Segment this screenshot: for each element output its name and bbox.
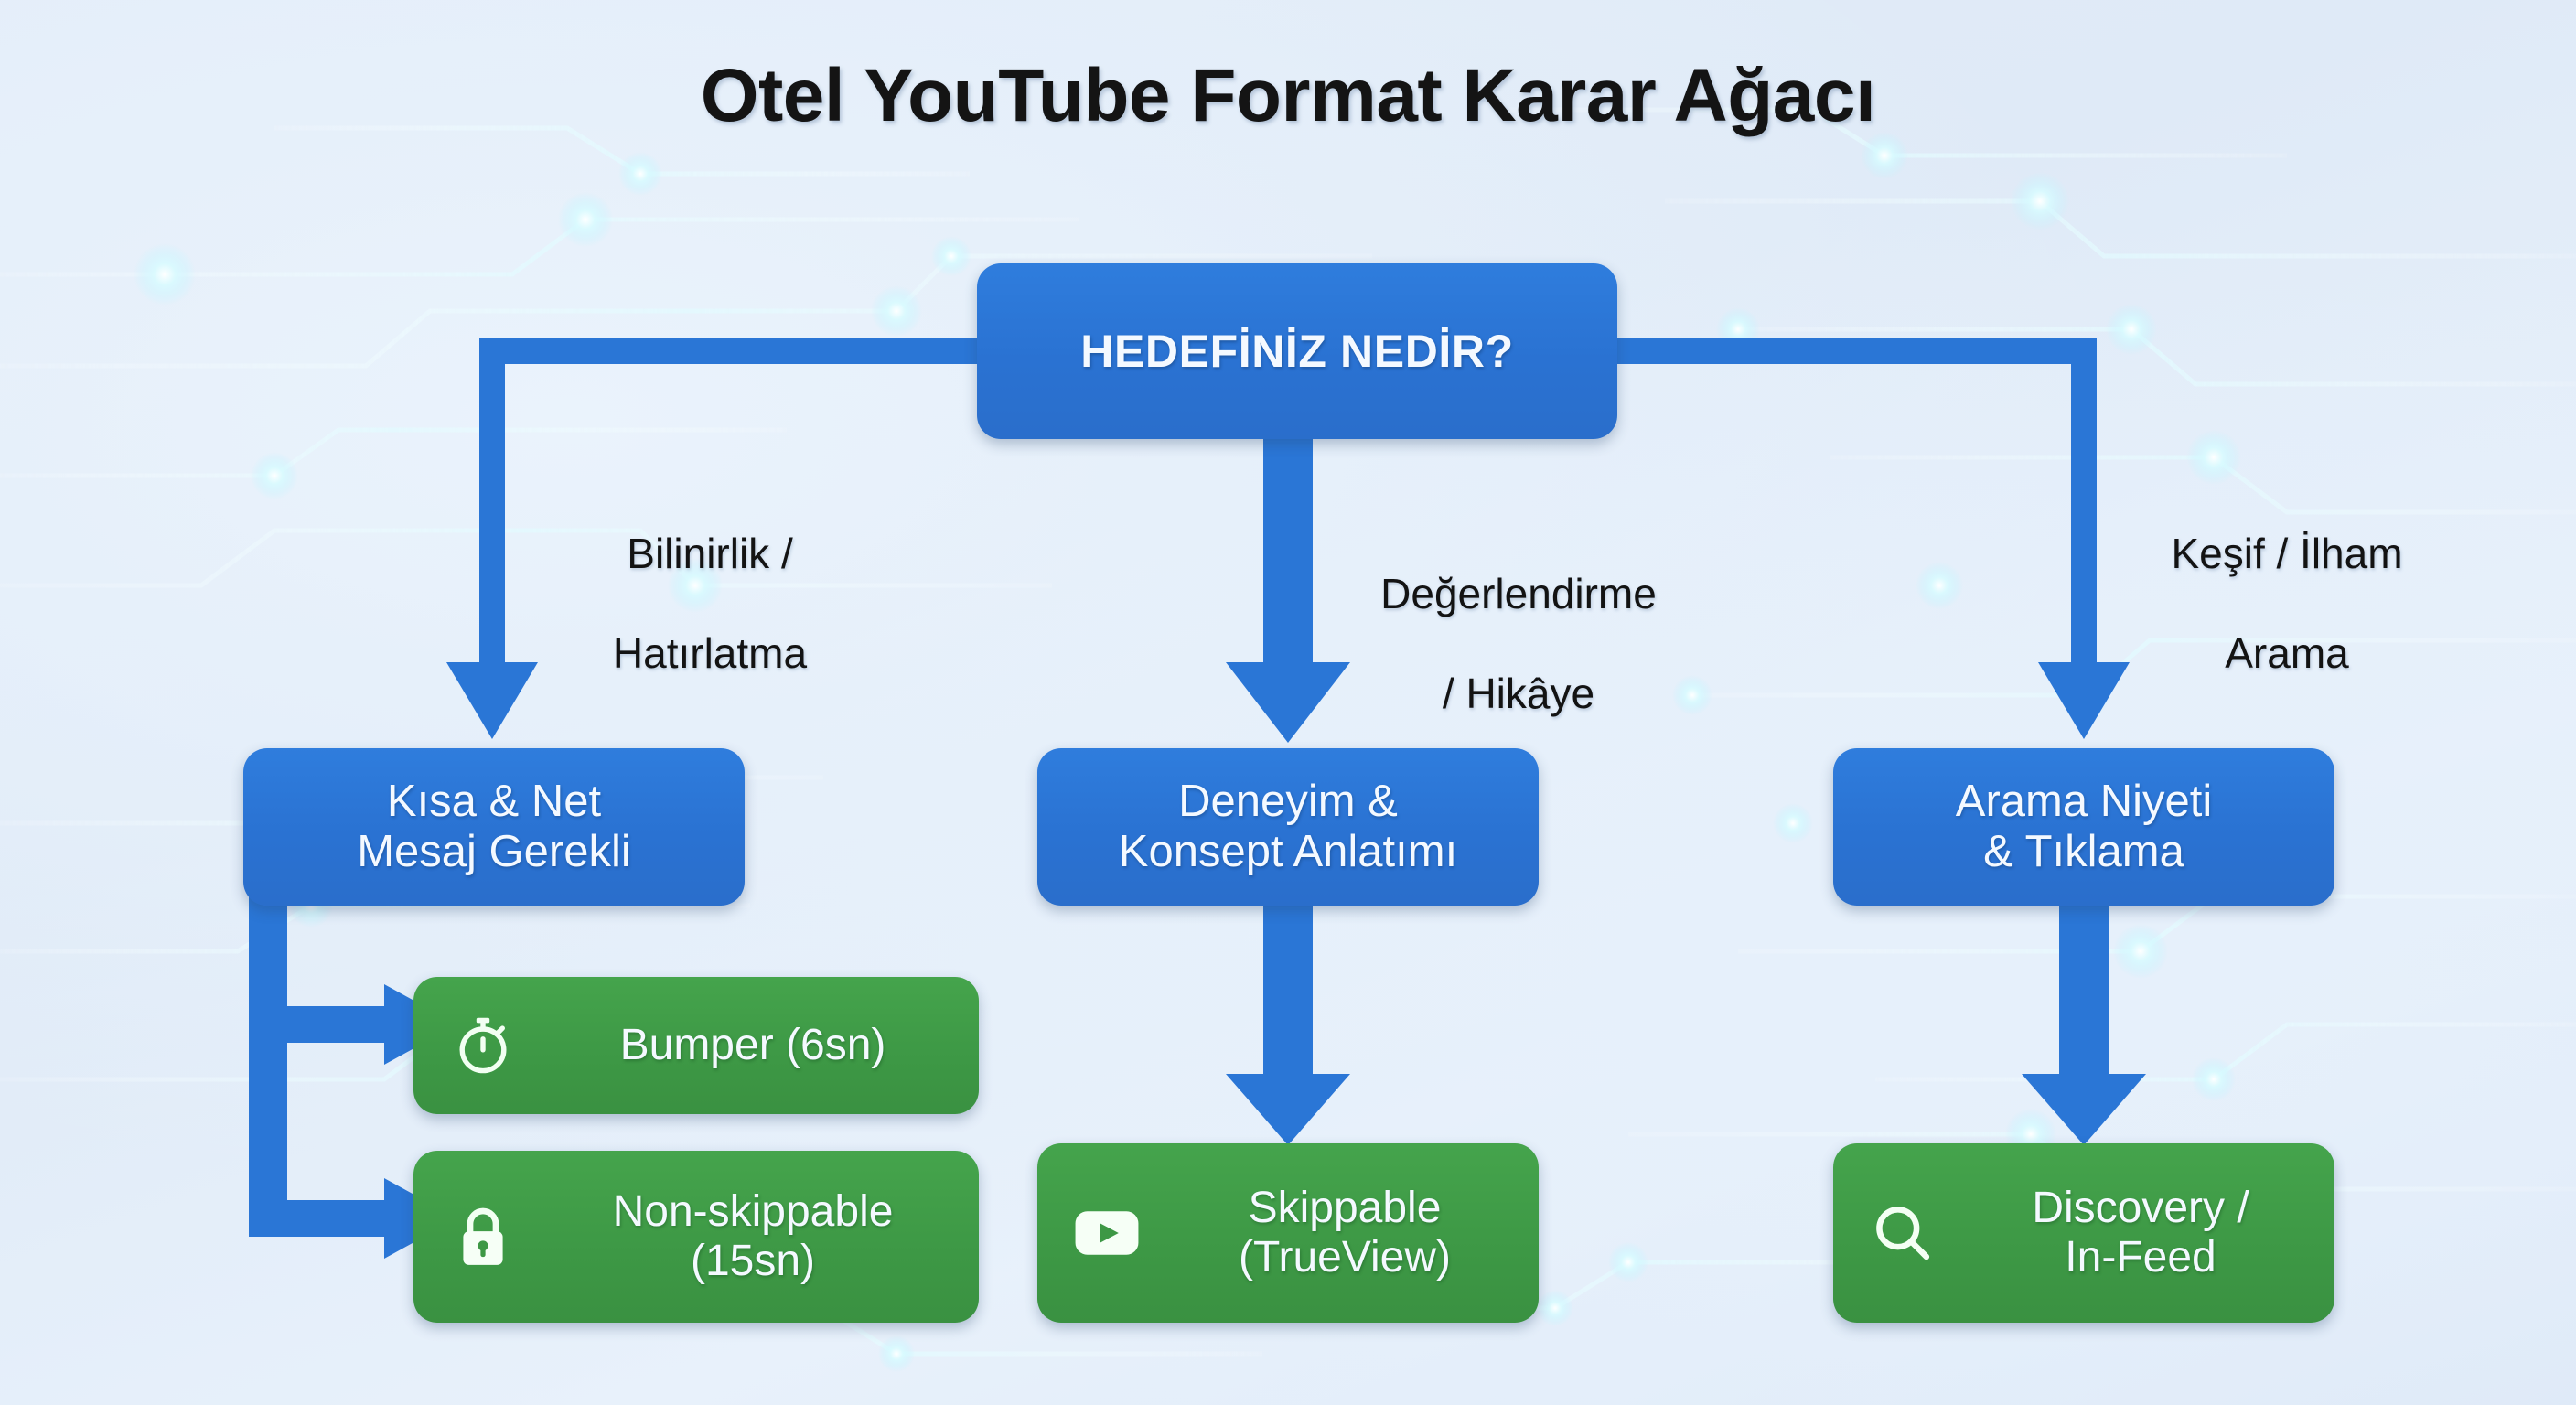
node-mid-center-line2: Konsept Anlatımı	[1119, 827, 1457, 876]
node-mid-left-line2: Mesaj Gerekli	[357, 827, 631, 876]
node-bumper-label: Bumper (6sn)	[543, 1021, 979, 1070]
node-skippable-line1: Skippable	[1249, 1184, 1442, 1232]
node-non-skippable-15sn[interactable]: Non-skippable (15sn)	[413, 1151, 979, 1323]
page-title: Otel YouTube Format Karar Ağacı	[0, 53, 2576, 139]
edge-label-left-line1: Bilinirlik /	[627, 530, 792, 577]
node-deneyim-konsept-anlatimi[interactable]: Deneyim & Konsept Anlatımı	[1037, 748, 1539, 906]
diagram-canvas: Otel YouTube Format Karar Ağacı HEDEFİNİ…	[0, 0, 2576, 1405]
edge-label-center: Değerlendirme / Hikâye	[1317, 520, 1720, 718]
node-nonskip-line1: Non-skippable	[613, 1187, 894, 1236]
stopwatch-icon	[448, 1011, 518, 1080]
node-mid-right-line1: Arama Niyeti	[1956, 777, 2212, 826]
node-discovery-in-feed[interactable]: Discovery / In-Feed	[1833, 1143, 2334, 1323]
node-mid-left-line1: Kısa & Net	[387, 777, 601, 826]
edge-label-center-line2: / Hikâye	[1443, 670, 1594, 717]
edge-label-center-line1: Değerlendirme	[1380, 570, 1657, 617]
edge-label-right-line1: Keşif / İlham	[2171, 530, 2402, 577]
edge-mid-center-to-skippable	[1226, 906, 1350, 1145]
node-kisa-net-mesaj-gerekli[interactable]: Kısa & Net Mesaj Gerekli	[243, 748, 745, 906]
node-mid-center-line1: Deneyim &	[1178, 777, 1398, 826]
node-discovery-line1: Discovery /	[2032, 1184, 2249, 1232]
node-discovery-line2: In-Feed	[2065, 1233, 2216, 1282]
edge-label-left: Bilinirlik / Hatırlatma	[536, 479, 884, 678]
node-mid-right-line2: & Tıklama	[1983, 827, 2184, 876]
edge-label-left-line2: Hatırlatma	[613, 629, 807, 677]
lock-icon	[448, 1202, 518, 1271]
node-bumper-6sn[interactable]: Bumper (6sn)	[413, 977, 979, 1114]
magnifier-icon	[1868, 1198, 1937, 1268]
node-skippable-trueview[interactable]: Skippable (TrueView)	[1037, 1143, 1539, 1323]
youtube-play-icon	[1072, 1198, 1142, 1268]
node-skippable-line2: (TrueView)	[1239, 1233, 1451, 1282]
node-arama-niyeti-tiklama[interactable]: Arama Niyeti & Tıklama	[1833, 748, 2334, 906]
node-nonskip-line2: (15sn)	[691, 1237, 815, 1285]
edge-mid-right-to-discovery	[2022, 906, 2146, 1145]
node-root-label: HEDEFİNİZ NEDİR?	[1080, 326, 1514, 377]
node-root-hedefiniz-nedir[interactable]: HEDEFİNİZ NEDİR?	[977, 263, 1617, 439]
edge-label-right: Keşif / İlham Arama	[2113, 479, 2461, 678]
edge-label-right-line2: Arama	[2225, 629, 2348, 677]
